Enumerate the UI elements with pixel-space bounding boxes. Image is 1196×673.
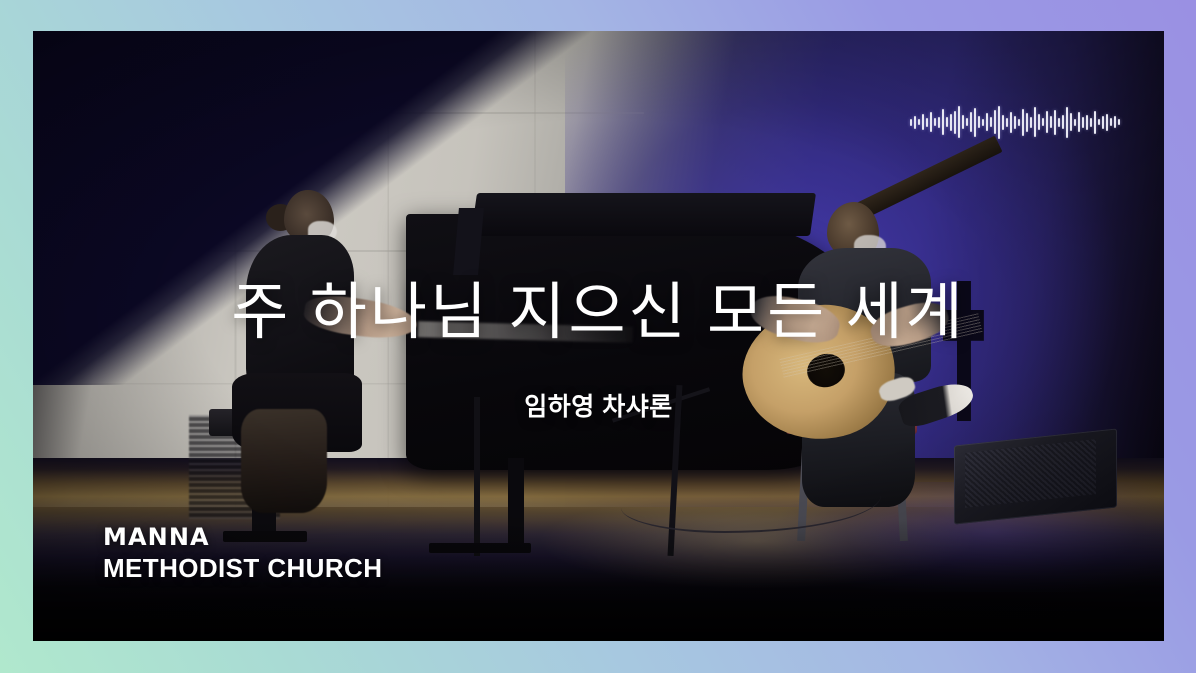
waveform-bar: [1054, 110, 1056, 135]
waveform-bar: [990, 117, 992, 127]
waveform-bar: [1066, 107, 1068, 138]
waveform-bar: [938, 117, 940, 128]
waveform-bar: [1018, 119, 1020, 126]
waveform-bar: [1090, 118, 1092, 127]
poster-canvas: 주 하나님 지으신 모든 세계 임하영 차샤론 MANNA METHODIST …: [0, 0, 1196, 673]
waveform-bar: [1102, 116, 1104, 129]
waveform-bar: [1094, 111, 1096, 134]
waveform-bar: [1058, 118, 1060, 127]
waveform-bar: [918, 119, 920, 125]
performer-names: 임하영 차샤론: [33, 387, 1164, 423]
waveform-bar: [930, 112, 932, 132]
waveform-bar: [986, 113, 988, 131]
waveform-bar: [954, 111, 956, 134]
grand-piano-lid: [471, 193, 816, 236]
waveform-bar: [1014, 116, 1016, 129]
brand-name: MANNA: [103, 522, 382, 552]
waveform-bar: [982, 119, 984, 126]
waveform-bar: [1010, 112, 1012, 133]
waveform-bar: [970, 112, 972, 132]
waveform-bar: [1070, 113, 1072, 131]
waveform-bar: [1030, 117, 1032, 128]
waveform-bar: [942, 109, 944, 135]
waveform-bar: [926, 118, 928, 127]
waveform-bar: [974, 108, 976, 137]
waveform-bar: [1110, 118, 1112, 126]
waveform-bar: [910, 119, 912, 126]
waveform-bar: [1086, 115, 1088, 130]
waveform-bar: [1026, 113, 1028, 132]
waveform-bar: [998, 106, 1000, 139]
waveform-bar: [1002, 115, 1004, 130]
pianist-legs: [241, 409, 327, 513]
waveform-bar: [1078, 112, 1080, 132]
audio-waveform-icon: [910, 103, 1120, 141]
video-title: 주 하나님 지으신 모든 세계: [33, 278, 1164, 349]
waveform-bar: [1062, 115, 1064, 129]
waveform-bar: [1050, 116, 1052, 128]
waveform-bar: [1034, 107, 1036, 137]
piano-leg: [508, 458, 524, 543]
waveform-bar: [994, 110, 996, 134]
church-brand-lockup: MANNA METHODIST CHURCH: [103, 522, 382, 585]
brand-subtitle: METHODIST CHURCH: [103, 552, 382, 585]
waveform-bar: [978, 116, 980, 128]
waveform-bar: [962, 115, 964, 129]
waveform-bar: [914, 116, 916, 129]
waveform-bar: [1022, 109, 1024, 136]
waveform-bar: [1006, 118, 1008, 127]
waveform-bar: [1046, 111, 1048, 133]
waveform-bar: [1106, 114, 1108, 131]
waveform-bar: [922, 114, 924, 130]
waveform-bar: [1074, 119, 1076, 126]
waveform-bar: [1114, 116, 1116, 128]
microphone-stand-base: [429, 543, 531, 553]
waveform-bar: [966, 118, 968, 126]
waveform-bar: [1082, 117, 1084, 128]
waveform-bar: [950, 114, 952, 131]
waveform-bar: [1042, 118, 1044, 126]
waveform-bar: [1098, 119, 1100, 125]
waveform-bar: [934, 118, 936, 126]
waveform-bar: [1038, 114, 1040, 130]
waveform-bar: [1118, 119, 1120, 125]
waveform-bar: [946, 117, 948, 127]
video-still-frame[interactable]: 주 하나님 지으신 모든 세계 임하영 차샤론 MANNA METHODIST …: [33, 31, 1164, 641]
waveform-bar: [958, 106, 960, 138]
